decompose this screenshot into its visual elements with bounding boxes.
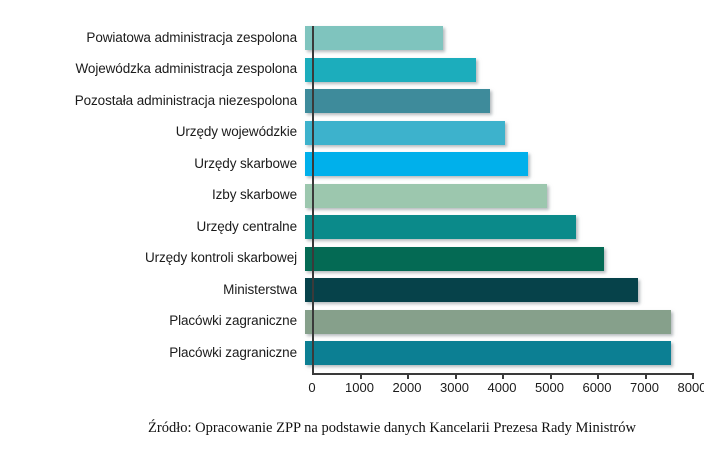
bar-row: Placówki zagraniczne: [40, 341, 704, 365]
bar-category-label: Placówki zagraniczne: [40, 346, 305, 360]
bar-category-label: Izby skarbowe: [40, 188, 305, 202]
bar-row: Urzędy kontroli skarbowej: [40, 247, 704, 271]
bar-category-label: Urzędy kontroli skarbowej: [40, 251, 305, 265]
bar-row: Izby skarbowe: [40, 184, 704, 208]
x-axis-tick-label: 7000: [630, 380, 659, 395]
bar-row: Placówki zagraniczne: [40, 310, 704, 334]
horizontal-bar-chart: Powiatowa administracja zespolonaWojewód…: [40, 16, 704, 464]
bar-category-label: Placówki zagraniczne: [40, 314, 305, 328]
bar-fill: [305, 121, 505, 145]
bar-fill: [305, 58, 476, 82]
bar-track: [305, 341, 704, 365]
x-axis-tick-label: 2000: [393, 380, 422, 395]
bar-fill: [305, 278, 638, 302]
bar-fill: [305, 184, 547, 208]
bar-fill: [305, 310, 671, 334]
x-axis-tick: [360, 373, 362, 379]
bar-track: [305, 247, 704, 271]
x-axis-tick: [455, 373, 457, 379]
bar-fill: [305, 26, 443, 50]
x-axis-tick-label: 5000: [535, 380, 564, 395]
bar-category-label: Powiatowa administracja zespolona: [40, 31, 305, 45]
bar-category-label: Pozostała administracja niezespolona: [40, 94, 305, 108]
bar-row: Urzędy skarbowe: [40, 152, 704, 176]
y-axis-line: [312, 26, 314, 374]
x-axis-tick: [645, 373, 647, 379]
bar-row: Urzędy wojewódzkie: [40, 121, 704, 145]
bar-category-label: Urzędy skarbowe: [40, 157, 305, 171]
x-axis-tick: [597, 373, 599, 379]
bar-fill: [305, 152, 528, 176]
bar-row: Ministerstwa: [40, 278, 704, 302]
bar-category-label: Urzędy wojewódzkie: [40, 125, 305, 139]
bar-track: [305, 58, 704, 82]
bar-track: [305, 152, 704, 176]
bar-track: [305, 278, 704, 302]
bar-row: Urzędy centralne: [40, 215, 704, 239]
x-axis-tick: [407, 373, 409, 379]
x-axis-tick: [692, 373, 694, 379]
x-axis-tick: [550, 373, 552, 379]
x-axis-tick-label: 0: [308, 380, 315, 395]
x-axis-tick-label: 6000: [583, 380, 612, 395]
plot-area: Powiatowa administracja zespolonaWojewód…: [40, 20, 704, 372]
x-axis-tick-label: 1000: [345, 380, 374, 395]
bar-track: [305, 215, 704, 239]
bar-category-label: Ministerstwa: [40, 283, 305, 297]
bar-fill: [305, 247, 604, 271]
bar-track: [305, 26, 704, 50]
bar-track: [305, 121, 704, 145]
bar-track: [305, 184, 704, 208]
bar-fill: [305, 341, 671, 365]
bar-row: Pozostała administracja niezespolona: [40, 89, 704, 113]
x-axis-tick-label: 8000: [678, 380, 704, 395]
bar-row: Powiatowa administracja zespolona: [40, 26, 704, 50]
bar-fill: [305, 89, 490, 113]
bar-fill: [305, 215, 576, 239]
bar-category-label: Wojewódzka administracja zespolona: [40, 62, 305, 76]
bar-track: [305, 89, 704, 113]
x-axis-tick-label: 3000: [440, 380, 469, 395]
bar-track: [305, 310, 704, 334]
x-axis-tick: [502, 373, 504, 379]
bar-row: Wojewódzka administracja zespolona: [40, 58, 704, 82]
x-axis-tick-label: 4000: [488, 380, 517, 395]
chart-source-caption: Źródło: Opracowanie ZPP na podstawie dan…: [40, 420, 704, 437]
bar-category-label: Urzędy centralne: [40, 220, 305, 234]
